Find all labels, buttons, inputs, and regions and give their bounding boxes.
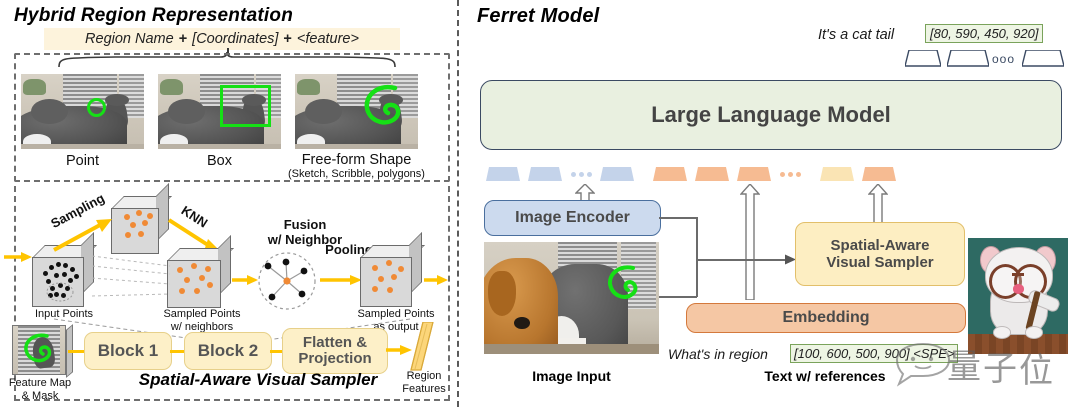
output-token-2	[947, 50, 989, 67]
right-panel-title: Ferret Model	[477, 5, 599, 28]
llm-label: Large Language Model	[651, 102, 891, 128]
arrow-to-fusion	[232, 273, 258, 287]
arrow-up-savs	[868, 184, 888, 226]
cube-sampled-output	[360, 245, 422, 305]
flatten-line1: Flatten &	[303, 334, 367, 351]
image-encoder-label: Image Encoder	[515, 209, 630, 227]
embedding-box[interactable]: Embedding	[686, 303, 966, 333]
input-token-blue-2	[528, 167, 562, 182]
box-example-image	[158, 74, 281, 149]
conn-image-right	[659, 296, 697, 298]
point-marker	[87, 98, 106, 117]
input-token-orange-ellipsis	[780, 172, 801, 177]
sampler-input-arrow	[4, 250, 32, 264]
model-answer-text: It's a cat tail	[818, 27, 894, 43]
input-token-orange-2	[695, 167, 729, 182]
region-feat-line1: Region	[407, 370, 442, 382]
conn-encoder-right	[659, 217, 697, 219]
example-box: Box	[158, 74, 281, 169]
fusion-neighbor-graph	[256, 252, 318, 310]
input-token-yellow	[820, 167, 854, 182]
block-2[interactable]: Block 2	[184, 332, 272, 370]
image-encoder-box[interactable]: Image Encoder	[484, 200, 661, 236]
correspondence-lines	[92, 248, 172, 310]
conn-image-up	[696, 259, 698, 297]
savs-label-line1: Spatial-Aware	[831, 237, 930, 254]
label-region-features: Region Features	[398, 370, 450, 395]
feature-map-line1: Feature Map	[9, 377, 71, 389]
input-token-blue-1	[486, 167, 520, 182]
arrow-pooling	[320, 273, 362, 287]
formula-region-name: Region Name	[85, 31, 174, 47]
formula-plus-2: +	[283, 31, 291, 47]
spatial-aware-visual-sampler-box[interactable]: Spatial-Aware Visual Sampler	[795, 222, 965, 286]
conn-encoder-down	[696, 217, 698, 259]
watermark-qbitai: 量 子 位	[885, 338, 1075, 400]
output-token-1	[905, 50, 941, 67]
input-token-orange-3	[737, 167, 771, 182]
input-token-orange-1	[653, 167, 687, 182]
flatten-projection-block[interactable]: Flatten & Projection	[282, 328, 388, 374]
point-example-image	[21, 74, 144, 149]
box-marker	[220, 85, 271, 127]
example-freeform-subcaption: (Sketch, Scribble, polygons)	[283, 168, 430, 180]
cube-input-points	[32, 245, 94, 305]
panel-divider	[457, 0, 459, 407]
ferret-mascot-image	[968, 238, 1068, 354]
input-image	[484, 242, 659, 354]
region-feat-line2: Features	[402, 383, 445, 395]
svg-text:子: 子	[983, 349, 1017, 389]
conn-fm-block1	[68, 350, 84, 353]
large-language-model-box[interactable]: Large Language Model	[480, 80, 1062, 150]
embedding-label: Embedding	[782, 309, 869, 327]
cube-sampled-top	[111, 196, 169, 252]
flatten-line2: Projection	[298, 350, 371, 367]
left-panel-title: Hybrid Region Representation	[14, 5, 293, 27]
question-text: What's in region	[668, 346, 768, 362]
model-answer-coordinates: [80, 590, 450, 920]	[925, 24, 1043, 43]
sampler-title: Spatial-Aware Visual Sampler	[128, 370, 388, 390]
savs-label-line2: Visual Sampler	[826, 254, 933, 271]
input-token-blue-3	[600, 167, 634, 182]
label-feature-map: Feature Map & Mask	[4, 377, 76, 402]
image-input-caption: Image Input	[484, 368, 659, 384]
formula-plus-1: +	[179, 31, 187, 47]
example-freeform: Free-form Shape (Sketch, Scribble, polyg…	[295, 74, 430, 180]
freeform-marker	[355, 80, 411, 132]
block-2-label: Block 2	[198, 342, 258, 361]
example-freeform-caption: Free-form Shape	[295, 152, 418, 168]
formula-feature: <feature>	[297, 31, 359, 47]
cube-sampled-neighbors	[167, 248, 231, 306]
output-token-3	[1022, 50, 1064, 67]
region-representation-formula: Region Name + [Coordinates] + <feature>	[44, 28, 400, 50]
block-1-label: Block 1	[98, 342, 158, 361]
svg-text:位: 位	[1019, 351, 1053, 391]
formula-coordinates: [Coordinates]	[192, 31, 278, 47]
output-token-ellipsis: ooo	[992, 52, 1015, 66]
feature-map-thumbnail	[12, 325, 68, 375]
arrow-up-embedding	[740, 184, 760, 300]
svg-text:量: 量	[947, 347, 981, 387]
example-point-caption: Point	[21, 153, 144, 169]
input-token-orange-4	[862, 167, 896, 182]
example-point: Point	[21, 74, 144, 169]
region-features-bar	[409, 322, 435, 372]
arrow-sampler-output	[424, 273, 448, 287]
conn-block1-block2	[170, 350, 184, 353]
freeform-marker-on-input	[603, 262, 645, 306]
conn-block2-flatten	[270, 350, 282, 353]
input-token-blue-ellipsis	[571, 172, 592, 177]
conn-to-savs	[696, 259, 788, 261]
block-1[interactable]: Block 1	[84, 332, 172, 370]
example-box-caption: Box	[158, 153, 281, 169]
freeform-example-image	[295, 74, 418, 149]
fusion-line1: Fusion	[284, 217, 327, 232]
feature-map-line2: & Mask	[22, 390, 59, 402]
